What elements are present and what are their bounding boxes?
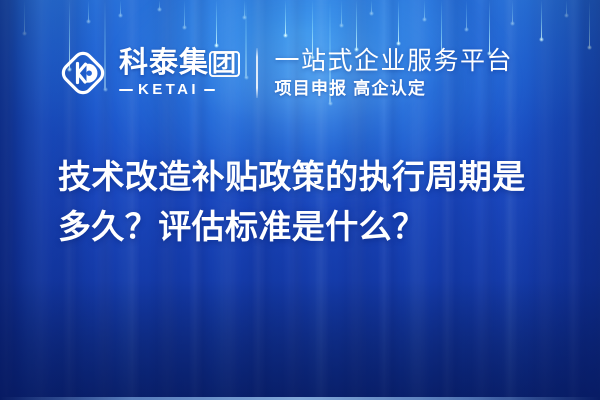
tagline-block: 一站式企业服务平台 项目申报 高企认定: [275, 47, 514, 99]
tagline-sub: 项目申报 高企认定: [275, 80, 514, 99]
headline-text: 技术改造补贴政策的执行周期是多久？评估标准是什么？: [58, 152, 558, 252]
logo-wordmark: 科泰集团 KETAI: [119, 48, 240, 99]
company-name-en-row: KETAI: [119, 81, 240, 98]
promo-banner: 科泰集团 KETAI 一站式企业服务平台 项目申报 高企认定 技术改造补贴政策的…: [0, 0, 600, 400]
company-name-en: KETAI: [138, 81, 199, 98]
dash-right-icon: [204, 89, 215, 92]
company-name-cn-boxed: 团: [209, 51, 240, 78]
header-divider: [256, 48, 258, 98]
brand-header: 科泰集团 KETAI 一站式企业服务平台 项目申报 高企认定: [58, 44, 513, 102]
ketai-logo-icon: [58, 48, 108, 98]
company-name-cn-main: 科泰集: [119, 47, 209, 79]
dash-left-icon: [119, 89, 133, 92]
company-name-cn: 科泰集团: [119, 48, 240, 79]
tagline-main: 一站式企业服务平台: [275, 47, 514, 75]
